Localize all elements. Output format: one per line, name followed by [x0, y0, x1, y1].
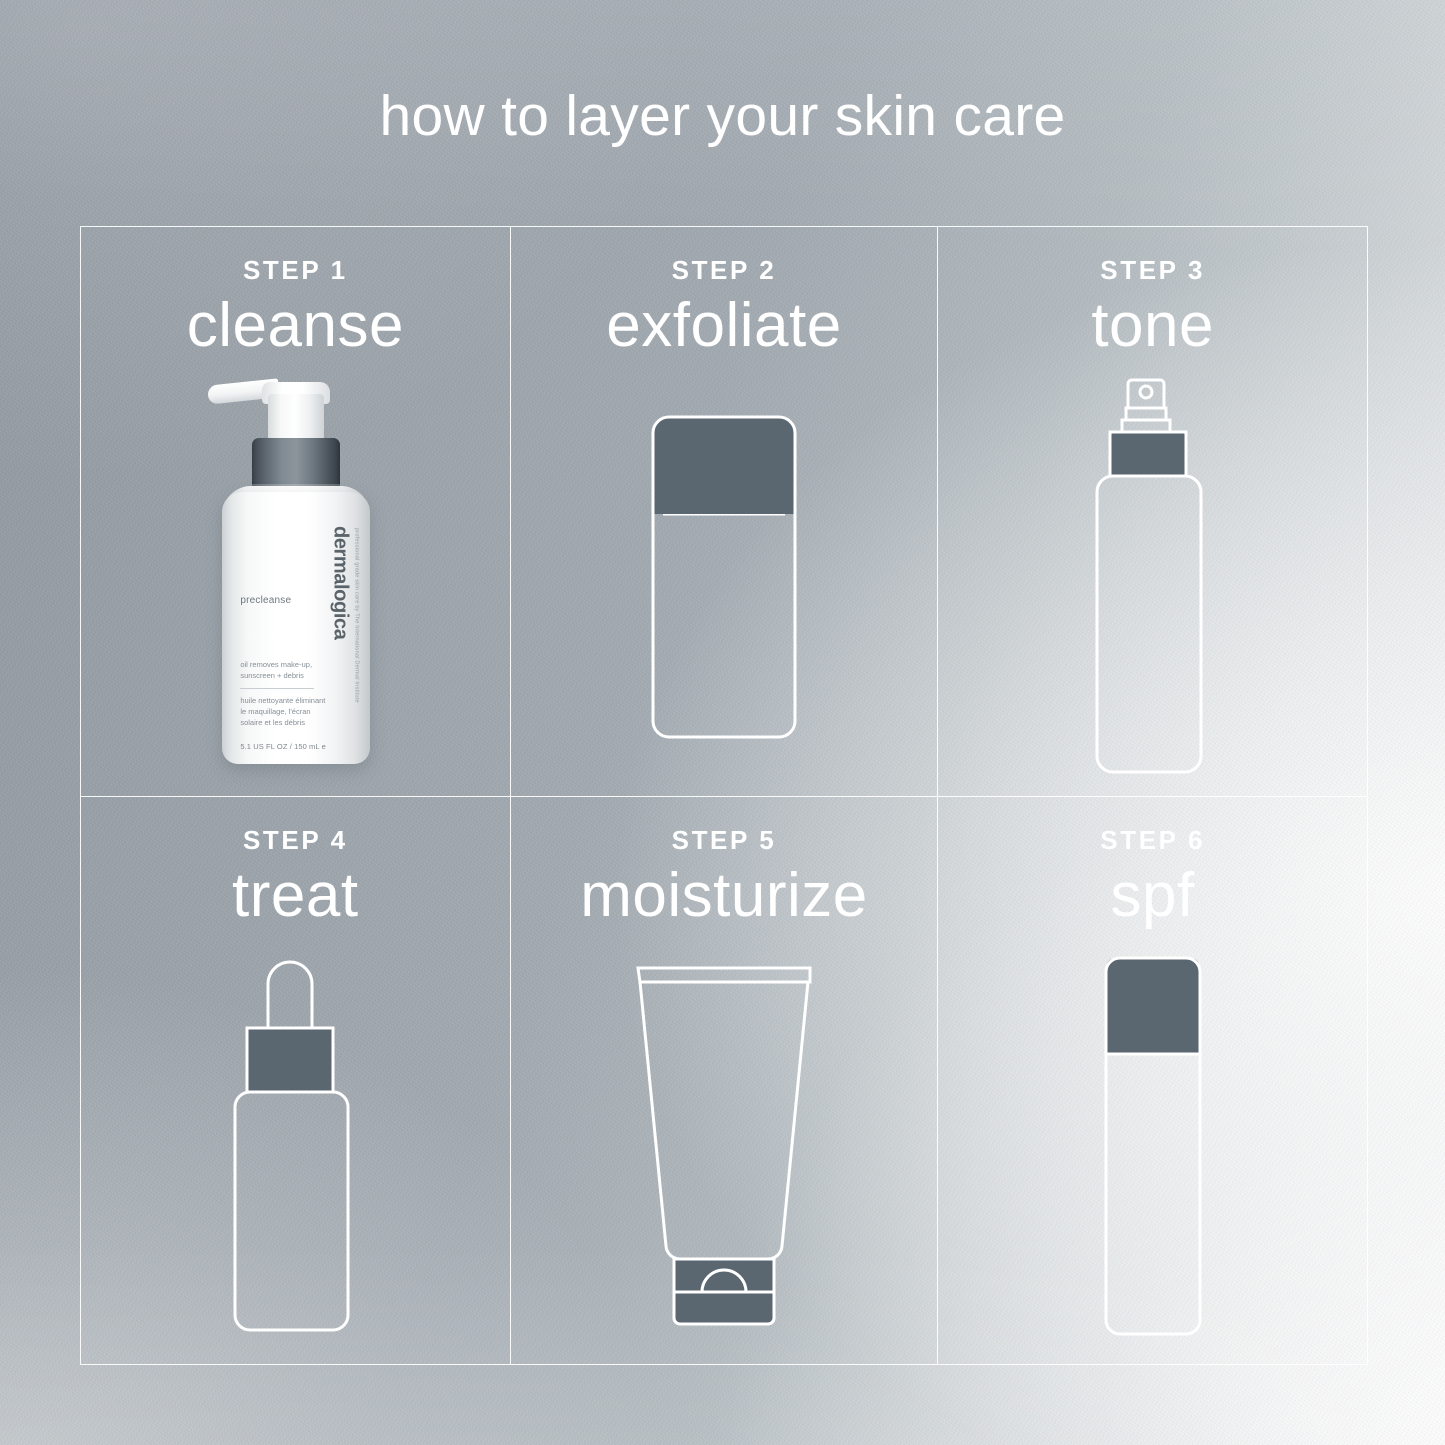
step-tag: STEP 4 — [243, 827, 348, 853]
step-product-art — [511, 358, 938, 795]
step-tag: STEP 1 — [243, 257, 348, 283]
step-cell-spf: STEP 6 spf — [938, 796, 1367, 1365]
step-tag: STEP 2 — [672, 257, 777, 283]
page-title: how to layer your skin care — [0, 88, 1445, 145]
step-name: exfoliate — [606, 293, 841, 358]
step-name: spf — [1111, 863, 1195, 928]
step-cell-tone: STEP 3 tone — [938, 227, 1367, 796]
step-cell-treat: STEP 4 treat — [81, 796, 510, 1365]
step-product-art: precleanse oil removes make-up, sunscree… — [81, 358, 510, 795]
step-name: moisturize — [580, 863, 868, 928]
brand-tagline-text: professional grade skin care by The Inte… — [352, 528, 360, 703]
product-name-text: precleanse — [240, 594, 291, 609]
moisturizer-tube-icon — [624, 946, 824, 1346]
step-name: treat — [232, 863, 359, 928]
steps-grid: STEP 1 cleanse precleanse oil removes ma… — [80, 226, 1368, 1365]
step-tag: STEP 5 — [672, 827, 777, 853]
step-name: cleanse — [187, 293, 404, 358]
step-tag: STEP 3 — [1100, 257, 1205, 283]
brand-wordmark: dermalogica — [325, 526, 354, 639]
spf-bottle-icon — [1098, 946, 1208, 1346]
toner-spray-bottle-icon — [1088, 372, 1218, 782]
step-name: tone — [1091, 293, 1214, 358]
step-cell-moisturize: STEP 5 moisturize — [510, 796, 939, 1365]
product-desc-en-text: oil removes make-up, sunscreen + debris — [240, 660, 322, 682]
label-divider — [240, 688, 314, 689]
step-product-art — [81, 928, 510, 1364]
step-product-art — [938, 358, 1367, 795]
step-tag: STEP 6 — [1100, 827, 1205, 853]
bottle-label: precleanse oil removes make-up, sunscree… — [222, 492, 370, 764]
exfoliant-bottle-icon — [649, 387, 799, 767]
precleanse-bottle-photo: precleanse oil removes make-up, sunscree… — [200, 376, 390, 771]
step-cell-exfoliate: STEP 2 exfoliate — [510, 227, 939, 796]
step-product-art — [938, 928, 1367, 1364]
step-product-art — [511, 928, 938, 1364]
product-volume-text: 5.1 US FL OZ / 150 mL e — [240, 742, 326, 753]
step-cell-cleanse: STEP 1 cleanse precleanse oil removes ma… — [81, 227, 510, 796]
serum-dropper-bottle-icon — [225, 952, 365, 1340]
product-desc-fr-text: huile nettoyante éliminant le maquillage… — [240, 696, 328, 729]
